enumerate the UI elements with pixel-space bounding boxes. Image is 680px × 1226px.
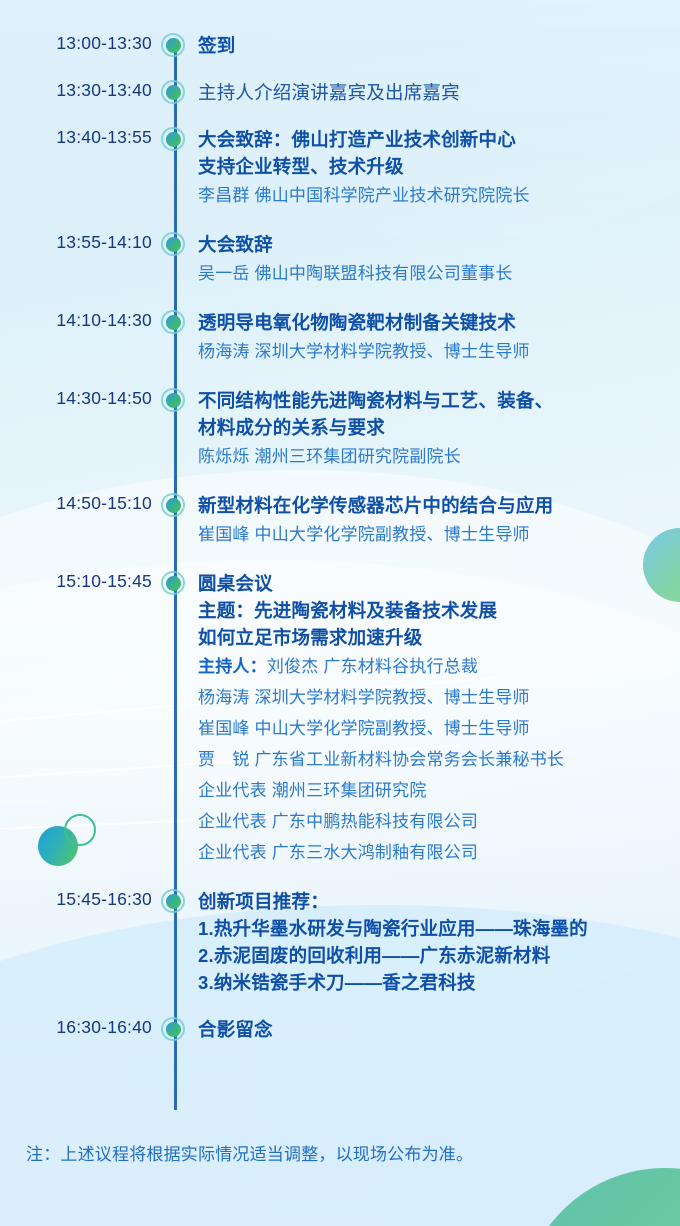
decorative-circle-filled	[38, 826, 78, 866]
agenda-line-title: 创新项目推荐：	[198, 888, 668, 915]
agenda-line-title: 签到	[198, 32, 668, 59]
agenda-line-speaker: 崔国峰 中山大学化学院副教授、博士生导师	[198, 713, 668, 744]
timeline-marker-dot	[166, 498, 181, 513]
agenda-line-title: 大会致辞：佛山打造产业技术创新中心	[198, 126, 668, 153]
agenda-line-title: 合影留念	[198, 1016, 668, 1043]
agenda-row-time: 14:30-14:50	[0, 387, 152, 409]
agenda-line-speaker: 企业代表 潮州三环集团研究院	[198, 775, 668, 806]
agenda-row-body: 创新项目推荐：1.热升华墨水研发与陶瓷行业应用——珠海墨的2.赤泥固废的回收利用…	[198, 888, 668, 996]
agenda-row-time: 14:10-14:30	[0, 309, 152, 331]
agenda-footnote: 注：上述议程将根据实际情况适当调整，以现场公布为准。	[26, 1140, 473, 1165]
agenda-line-title: 大会致辞	[198, 231, 668, 258]
agenda-line-title: 材料成分的关系与要求	[198, 414, 668, 441]
agenda-row-time: 15:45-16:30	[0, 888, 152, 910]
timeline-marker-icon	[161, 493, 189, 521]
agenda-row-body: 签到	[198, 32, 668, 59]
decorative-circle-pair	[38, 814, 108, 864]
agenda-page: 13:00-13:30签到13:30-13:40主持人介绍演讲嘉宾及出席嘉宾13…	[0, 0, 680, 1226]
agenda-line-speaker: 崔国峰 中山大学化学院副教授、博士生导师	[198, 519, 668, 550]
timeline-marker-dot	[166, 237, 181, 252]
agenda-row-time: 15:10-15:45	[0, 570, 152, 592]
agenda-line-text: 刘俊杰 广东材料谷执行总裁	[267, 657, 478, 676]
agenda-line-title: 圆桌会议	[198, 570, 668, 597]
agenda-line-title: 不同结构性能先进陶瓷材料与工艺、装备、	[198, 387, 668, 414]
agenda-line-speaker: 企业代表 广东三水大鸿制釉有限公司	[198, 837, 668, 868]
timeline-marker-icon	[161, 1017, 189, 1045]
agenda-row-time: 16:30-16:40	[0, 1016, 152, 1038]
agenda-line-speaker: 主持人：刘俊杰 广东材料谷执行总裁	[198, 651, 668, 682]
agenda-row-body: 主持人介绍演讲嘉宾及出席嘉宾	[198, 79, 668, 106]
timeline-marker-dot	[166, 85, 181, 100]
agenda-row-time: 13:40-13:55	[0, 126, 152, 148]
timeline-marker-dot	[166, 576, 181, 591]
agenda-line-title: 主题：先进陶瓷材料及装备技术发展	[198, 597, 668, 624]
timeline-marker-dot	[166, 1022, 181, 1037]
timeline-marker-dot	[166, 38, 181, 53]
agenda-line-lead: 主持人：	[198, 657, 267, 676]
timeline-marker-icon	[161, 889, 189, 917]
timeline-marker-icon	[161, 571, 189, 599]
timeline-marker-icon	[161, 127, 189, 155]
agenda-line-plain: 主持人介绍演讲嘉宾及出席嘉宾	[198, 79, 668, 106]
decorative-circle-ring	[64, 814, 96, 846]
agenda-row-body: 透明导电氧化物陶瓷靶材制备关键技术杨海涛 深圳大学材料学院教授、博士生导师	[198, 309, 668, 367]
agenda-line-speaker: 杨海涛 深圳大学材料学院教授、博士生导师	[198, 336, 668, 367]
timeline-marker-dot	[166, 393, 181, 408]
agenda-row-body: 新型材料在化学传感器芯片中的结合与应用崔国峰 中山大学化学院副教授、博士生导师	[198, 492, 668, 550]
timeline-marker-dot	[166, 315, 181, 330]
agenda-line-speaker: 陈烁烁 潮州三环集团研究院副院长	[198, 441, 668, 472]
timeline-marker-dot	[166, 132, 181, 147]
agenda-line-title: 支持企业转型、技术升级	[198, 153, 668, 180]
agenda-row-time: 14:50-15:10	[0, 492, 152, 514]
agenda-row-body: 大会致辞：佛山打造产业技术创新中心支持企业转型、技术升级李昌群 佛山中国科学院产…	[198, 126, 668, 211]
timeline-marker-dot	[166, 894, 181, 909]
agenda-row-time: 13:00-13:30	[0, 32, 152, 54]
agenda-row-time: 13:30-13:40	[0, 79, 152, 101]
agenda-row-body: 圆桌会议主题：先进陶瓷材料及装备技术发展如何立足市场需求加速升级主持人：刘俊杰 …	[198, 570, 668, 868]
agenda-line-title: 2.赤泥固废的回收利用——广东赤泥新材料	[198, 942, 668, 969]
agenda-line-title: 1.热升华墨水研发与陶瓷行业应用——珠海墨的	[198, 915, 668, 942]
agenda-row-body: 合影留念	[198, 1016, 668, 1043]
agenda-line-speaker: 企业代表 广东中鹏热能科技有限公司	[198, 806, 668, 837]
agenda-row-body: 不同结构性能先进陶瓷材料与工艺、装备、材料成分的关系与要求陈烁烁 潮州三环集团研…	[198, 387, 668, 472]
timeline-marker-icon	[161, 388, 189, 416]
agenda-line-title: 3.纳米锆瓷手术刀——香之君科技	[198, 969, 668, 996]
timeline-marker-icon	[161, 80, 189, 108]
agenda-row-body: 大会致辞吴一岳 佛山中陶联盟科技有限公司董事长	[198, 231, 668, 289]
timeline-marker-icon	[161, 33, 189, 61]
decorative-corner-blob	[520, 1168, 680, 1226]
agenda-line-speaker: 贾 锐 广东省工业新材料协会常务会长兼秘书长	[198, 744, 668, 775]
timeline-marker-icon	[161, 310, 189, 338]
timeline-marker-icon	[161, 232, 189, 260]
agenda-line-title: 新型材料在化学传感器芯片中的结合与应用	[198, 492, 668, 519]
agenda-line-title: 透明导电氧化物陶瓷靶材制备关键技术	[198, 309, 668, 336]
agenda-line-title: 如何立足市场需求加速升级	[198, 624, 668, 651]
agenda-line-speaker: 李昌群 佛山中国科学院产业技术研究院院长	[198, 180, 668, 211]
agenda-line-speaker: 杨海涛 深圳大学材料学院教授、博士生导师	[198, 682, 668, 713]
agenda-line-speaker: 吴一岳 佛山中陶联盟科技有限公司董事长	[198, 258, 668, 289]
agenda-row-time: 13:55-14:10	[0, 231, 152, 253]
